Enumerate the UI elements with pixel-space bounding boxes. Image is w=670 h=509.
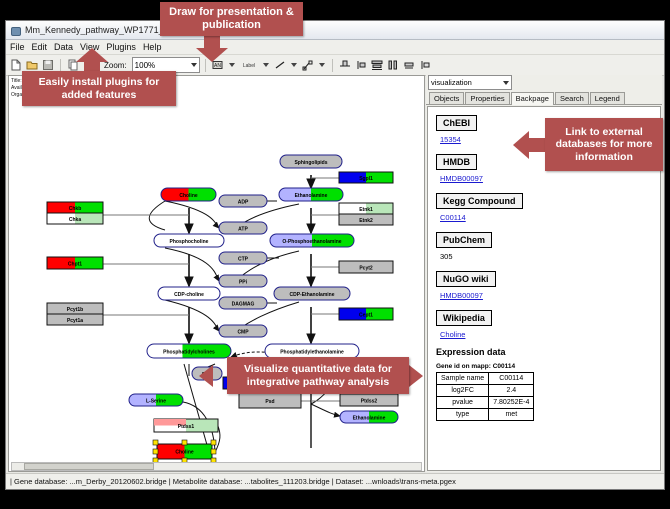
interaction-icon[interactable] [301,58,315,72]
svg-text:AN: AN [214,63,221,69]
svg-text:CDP-Ethanolamine: CDP-Ethanolamine [289,292,334,298]
node-ethanolamine-top[interactable]: Ethanolamine [279,188,343,201]
save-icon[interactable] [41,58,55,72]
svg-text:Phosphocholine: Phosphocholine [170,239,209,245]
node-phosphatidylcholines[interactable]: Phosphatidylcholines [147,344,231,358]
node-sgpl1[interactable]: Sgpl1 [339,172,393,183]
svg-text:CMP: CMP [237,330,249,336]
screenshot-root: Mm_Kennedy_pathway_WP1771_45176.gpml Fil… [0,0,670,509]
tab-legend[interactable]: Legend [590,92,625,105]
svg-text:Ptdss1: Ptdss1 [178,424,195,430]
align-top-icon[interactable] [338,58,352,72]
node-pcyt2[interactable]: Pcyt2 [339,261,393,273]
node-ptdss2[interactable]: Ptdss2 [340,394,398,406]
node-chkb[interactable]: Chkb [47,202,103,213]
align-left-icon[interactable] [354,58,368,72]
svg-text:Sphingolipids: Sphingolipids [294,160,327,166]
callout-link-text: Link to external databases for more info… [545,126,663,162]
backpage-link-kegg[interactable]: C00114 [440,213,660,222]
node-etnk1[interactable]: Etnk1 [339,203,393,214]
backpage-heading-nugo: NuGO wiki [436,271,496,287]
distribute-horizontal-icon[interactable] [386,58,400,72]
visualization-row: visualization [426,75,662,90]
toolbar-separator [332,59,333,72]
svg-text:Pcyt1b: Pcyt1b [67,307,83,313]
svg-text:Psd: Psd [265,399,274,405]
menu-data[interactable]: Data [54,42,73,52]
backpage-heading-pubchem: PubChem [436,232,492,248]
svg-text:Chka: Chka [69,217,81,223]
cell-label: pvalue [437,397,489,409]
chevron-down-icon[interactable] [291,63,297,67]
menu-help[interactable]: Help [143,42,162,52]
node-chka[interactable]: Chka [47,213,103,224]
svg-text:Ethanolamine: Ethanolamine [353,416,386,422]
callout-plugins-text: Easily install plugins for added feature… [22,76,176,100]
callout-link: Link to external databases for more info… [545,118,663,171]
node-etnk2[interactable]: Etnk2 [339,214,393,225]
callout-plugins: Easily install plugins for added feature… [22,71,176,106]
table-row: pvalue 7.80252E-4 [437,397,534,409]
callout-visualize-text: Visualize quantitative data for integrat… [227,363,409,387]
svg-text:ATP: ATP [238,227,248,233]
menu-file[interactable]: File [10,42,25,52]
svg-text:Phosphatidylcholines: Phosphatidylcholines [163,350,215,356]
node-cdp-ethanolamine[interactable]: CDP-Ethanolamine [274,287,350,300]
svg-text:Cept1: Cept1 [359,313,373,319]
svg-text:Chkb: Chkb [69,206,82,212]
tab-search[interactable]: Search [555,92,589,105]
node-pcyt1a[interactable]: Pcyt1a [47,314,103,325]
node-phosphocholine[interactable]: Phosphocholine [154,234,224,247]
node-pcyt1b[interactable]: Pcyt1b [47,303,103,314]
node-atp[interactable]: ATP [219,222,267,234]
node-adp[interactable]: ADP [219,195,267,207]
cell-label: type [437,409,489,421]
svg-text:O-Phosphoethanolamine: O-Phosphoethanolamine [282,239,341,245]
svg-text:Ethanolamine: Ethanolamine [295,193,328,199]
cell-value: 2.4 [489,385,534,397]
chevron-down-icon[interactable] [319,63,325,67]
open-folder-icon[interactable] [25,58,39,72]
svg-text:Pcyt2: Pcyt2 [359,266,373,272]
size-icon[interactable] [418,58,432,72]
zoom-value: 100% [135,61,155,70]
backpage-link-nugo[interactable]: HMDB00097 [440,291,660,300]
status-bar: | Gene database: ...m_Derby_20120602.bri… [6,473,664,489]
scrollbar-thumb[interactable] [24,463,154,470]
svg-text:Chpt1: Chpt1 [68,262,82,268]
pathway-canvas[interactable]: Title: Availa Organi [8,75,425,472]
chevron-down-icon [503,81,509,85]
pathvisio-icon [10,25,21,36]
svg-text:Etnk2: Etnk2 [359,218,373,224]
node-cdp-choline[interactable]: CDP-choline [158,287,220,300]
backpage-heading-chebi: ChEBI [436,115,477,131]
line-icon[interactable] [273,58,287,72]
node-choline-top[interactable]: Choline [161,188,216,201]
cell-value: met [489,409,534,421]
tab-properties[interactable]: Properties [465,92,509,105]
backpage-value-pubchem: 305 [440,252,660,261]
node-ppi[interactable]: PPi [219,275,267,287]
cell-label: Sample name [437,373,489,385]
callout-visualize: Visualize quantitative data for integrat… [227,357,409,394]
svg-text:Pcyt1a: Pcyt1a [67,318,83,324]
svg-text:Choline: Choline [179,193,198,199]
gene-id-note: Gene id on mapp: C00114 [436,363,660,370]
backpage-link-wikipedia[interactable]: Choline [440,330,660,339]
node-phosphatidylethanolamine[interactable]: Phosphatidylethanolamine [265,344,359,358]
canvas-horizontal-scrollbar[interactable] [11,462,422,471]
pathway-graph: Sphingolipids Choline Ethanolamine Phosp… [9,76,424,472]
svg-text:Label: Label [243,63,255,69]
distribute-vertical-icon[interactable] [370,58,384,72]
svg-text:L-Serine: L-Serine [146,399,166,405]
node-ctp[interactable]: CTP [219,252,267,264]
label-icon[interactable]: Label [239,58,259,72]
callout-draw-text: Draw for presentation & publication [160,6,303,31]
cell-label: log2FC [437,385,489,397]
svg-text:Ptdss2: Ptdss2 [361,399,378,405]
backpage-heading-kegg: Kegg Compound [436,193,523,209]
visualization-value: visualization [431,78,472,87]
node-ptdss1[interactable]: Ptdss1 [154,419,218,432]
backpage-heading-wikipedia: Wikipedia [436,310,492,326]
new-file-icon[interactable] [9,58,23,72]
backpage-link-hmdb[interactable]: HMDB00097 [440,174,660,183]
node-cept1[interactable]: Cept1 [339,308,393,320]
svg-text:CDP-choline: CDP-choline [174,292,204,298]
svg-text:CTP: CTP [238,257,249,263]
expression-data-title: Expression data [436,347,660,357]
svg-text:Sgpl1: Sgpl1 [359,176,373,182]
expression-table: Sample name C00114 log2FC 2.4 pvalue 7.8… [436,372,534,421]
svg-text:Phosphatidylethanolamine: Phosphatidylethanolamine [280,350,344,356]
cell-value: C00114 [489,373,534,385]
table-row: Sample name C00114 [437,373,534,385]
svg-text:Etnk1: Etnk1 [359,207,373,213]
table-row: log2FC 2.4 [437,385,534,397]
menu-edit[interactable]: Edit [32,42,48,52]
node-sphingolipids[interactable]: Sphingolipids [280,155,342,168]
cell-value: 7.80252E-4 [489,397,534,409]
node-cmp[interactable]: CMP [219,325,267,337]
svg-text:PPi: PPi [239,280,248,286]
tab-objects[interactable]: Objects [429,92,464,105]
chevron-down-icon [191,63,197,67]
side-panel-tabs: Objects Properties Backpage Search Legen… [426,90,662,105]
status-text: | Gene database: ...m_Derby_20120602.bri… [6,477,456,486]
visualization-select[interactable]: visualization [428,75,512,90]
chevron-down-icon[interactable] [263,63,269,67]
callout-draw: Draw for presentation & publication [160,2,303,36]
svg-text:ADP: ADP [238,200,249,206]
node-l-serine-left[interactable]: L-Serine [129,394,183,406]
title-bar: Mm_Kennedy_pathway_WP1771_45176.gpml [6,21,664,40]
node-dagmag[interactable]: DAGMAG [219,297,267,309]
node-o-phosphoethanolamine[interactable]: O-Phosphoethanolamine [270,234,354,247]
table-row: type met [437,409,534,421]
tab-backpage[interactable]: Backpage [511,92,554,106]
svg-text:DAGMAG: DAGMAG [232,302,255,308]
svg-text:Choline: Choline [175,450,194,456]
chevron-down-icon[interactable] [229,63,235,67]
node-ethanolamine-bottom[interactable]: Ethanolamine [340,411,398,423]
stack-icon[interactable] [402,58,416,72]
node-psd[interactable]: Psd [239,393,301,408]
toolbar-separator [60,59,61,72]
node-chpt1[interactable]: Chpt1 [47,257,103,269]
backpage-heading-hmdb: HMDB [436,154,477,170]
